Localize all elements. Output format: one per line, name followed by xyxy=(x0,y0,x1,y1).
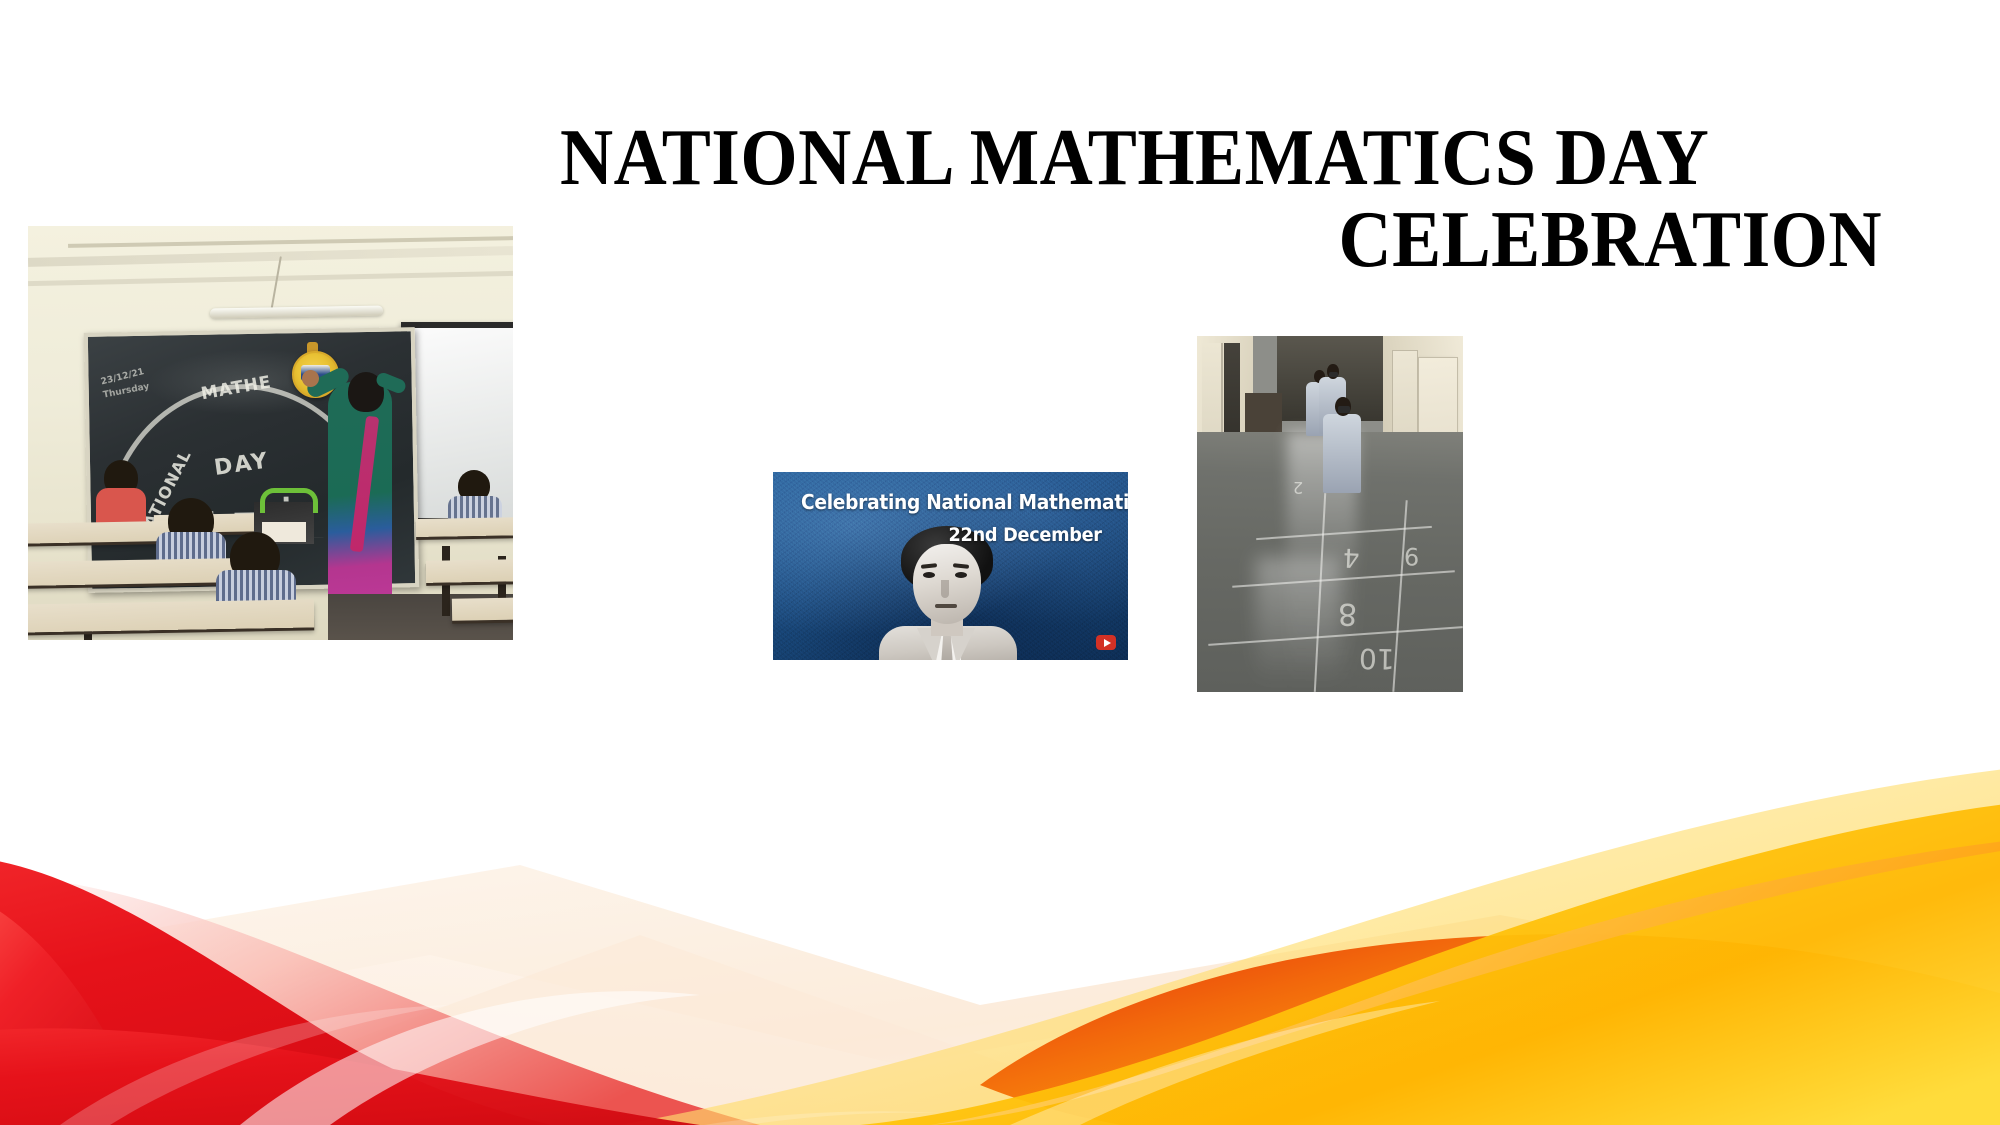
desk xyxy=(426,559,513,583)
presentation-slide: NATIONAL MATHEMATICS DAY CELEBRATION 23/… xyxy=(0,0,2000,1125)
desk xyxy=(28,599,314,632)
desk xyxy=(28,558,238,586)
teacher-hand xyxy=(302,370,319,387)
student-body xyxy=(1323,414,1360,492)
poster-headline: Celebrating National Mathematics Day xyxy=(801,490,1128,514)
wave-ribbon-footer xyxy=(0,705,2000,1125)
face-mask xyxy=(1329,372,1338,378)
portrait-nose xyxy=(941,580,949,598)
title-line-2: CELEBRATION xyxy=(666,200,1882,282)
ramanujan-poster-photo: Celebrating National Mathematics Day 22n… xyxy=(773,472,1128,660)
hopscotch-number: 8 xyxy=(1338,596,1358,631)
portrait-eye xyxy=(955,572,967,578)
corridor-hopscotch-photo: 2 4 9 8 10 xyxy=(1197,336,1463,692)
face-mask xyxy=(1338,406,1350,413)
floor-reflection xyxy=(1256,557,1341,685)
hopscotch-number: 9 xyxy=(1404,542,1420,570)
desk xyxy=(452,597,513,620)
hopscotch-number: 2 xyxy=(1293,478,1304,497)
ramanujan-portrait xyxy=(873,526,1023,660)
classroom-blackboard-photo: 23/12/21 Thursday NATIONAL MATHE MATICS … xyxy=(28,226,513,640)
subscribe-play-button-icon xyxy=(1096,635,1116,650)
page-title: NATIONAL MATHEMATICS DAY CELEBRATION xyxy=(560,118,1882,281)
title-line-1: NATIONAL MATHEMATICS DAY xyxy=(560,118,1776,200)
hopscotch-number: 10 xyxy=(1359,642,1395,676)
portrait-mouth xyxy=(935,604,957,608)
poster-date: 22nd December xyxy=(949,524,1102,546)
hopscotch-number: 4 xyxy=(1343,542,1361,573)
desk xyxy=(416,517,513,537)
portrait-eye xyxy=(923,572,935,578)
whiteboard xyxy=(401,322,513,524)
